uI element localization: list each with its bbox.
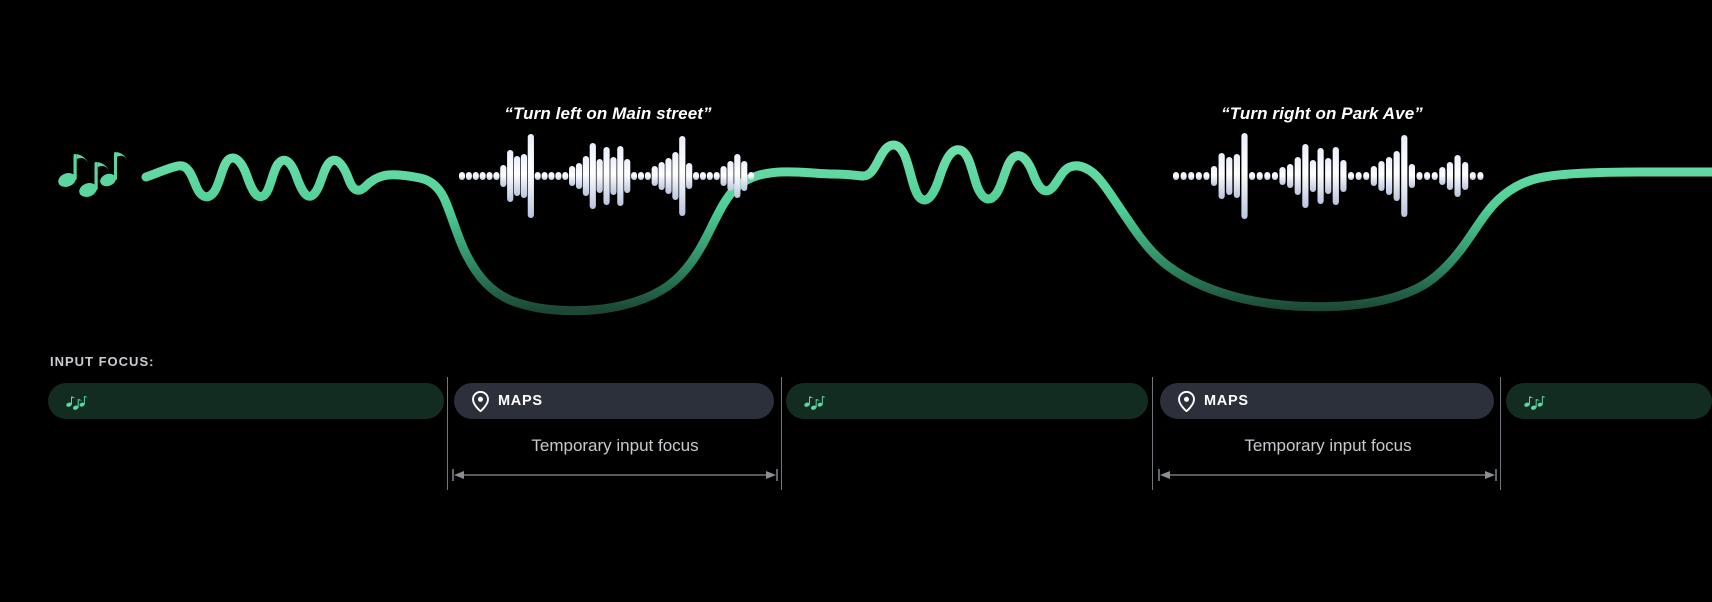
focus-segment-maps-1[interactable]: MAPS: [454, 383, 774, 419]
waveform-bar: [1257, 172, 1263, 180]
waveform-bar: [1302, 144, 1308, 208]
waveform-bar: [707, 172, 713, 180]
waveform-bar: [521, 154, 527, 198]
waveform-bar: [1409, 164, 1415, 188]
waveform-bar: [1264, 172, 1270, 180]
waveform-bar: [1417, 172, 1423, 180]
waveform-bar: [1386, 157, 1392, 195]
waveform-bar: [1378, 161, 1384, 191]
waveform-bar: [459, 172, 465, 180]
map-pin-icon: [1178, 391, 1195, 412]
input-focus-track: INPUT FOCUS:: [0, 330, 1712, 602]
waveform-bar: [1203, 172, 1209, 180]
waveform-bar: [1211, 166, 1217, 186]
focus-segment-audio-1[interactable]: [48, 383, 444, 419]
waveform-bar: [1462, 162, 1468, 190]
waveform-bar: [659, 162, 665, 190]
waveform-bar: [1333, 147, 1339, 205]
waveform-bar: [1447, 162, 1453, 190]
waveform-bar: [1477, 172, 1483, 180]
input-focus-heading: INPUT FOCUS:: [50, 354, 154, 369]
waveform-bar: [1325, 158, 1331, 194]
divider-3: [1152, 377, 1153, 490]
focus-segment-label: MAPS: [498, 393, 543, 409]
waveform-bar: [714, 172, 720, 180]
audio-wave-canvas: [0, 0, 1712, 330]
focus-segment-maps-2[interactable]: MAPS: [1160, 383, 1494, 419]
waveform-bar: [638, 172, 644, 180]
waveform-bar: [1424, 172, 1430, 180]
waveform-bar: [700, 172, 706, 180]
waveform-bar: [1272, 172, 1278, 180]
waveform-bar: [1295, 157, 1301, 195]
divider-2: [781, 377, 782, 490]
speech-label-2: “Turn right on Park Ave”: [1221, 104, 1423, 124]
waveform-bar: [466, 172, 472, 180]
music-level-wave: [146, 145, 1712, 311]
waveform-bar: [748, 172, 754, 180]
speech-label-1: “Turn left on Main street”: [504, 104, 711, 124]
temporary-focus-arrow-1: [452, 468, 778, 482]
waveform-bar: [679, 136, 685, 216]
waveform-bar: [1310, 160, 1316, 192]
waveform-bar: [603, 147, 609, 205]
waveform-bar: [1432, 172, 1438, 180]
temporary-focus-caption-1: Temporary input focus: [531, 436, 698, 456]
waveform-bar: [535, 172, 541, 180]
focus-segment-label: MAPS: [1204, 393, 1249, 409]
divider-1: [447, 377, 448, 490]
waveform-bar: [1348, 172, 1354, 180]
waveform-bar: [617, 146, 623, 206]
waveform-bar: [583, 156, 589, 196]
waveform-bar: [569, 166, 575, 186]
music-notes-icon: [56, 152, 127, 199]
waveform-bar: [665, 158, 671, 194]
waveform-bar: [590, 143, 596, 209]
temporary-focus-arrow-2: [1158, 468, 1497, 482]
waveform-bar: [631, 172, 637, 180]
waveform-bar: [562, 172, 568, 180]
waveform-bar: [1181, 172, 1187, 180]
waveform-bar: [1394, 151, 1400, 201]
waveform-bar: [1219, 153, 1225, 199]
waveform-bar: [1173, 172, 1179, 180]
voice-burst-bars-2: [1173, 133, 1483, 219]
waveform-focus-diagram: “Turn left on Main street” “Turn right o…: [0, 0, 1712, 602]
waveform-bar: [734, 154, 740, 198]
waveform-bar: [487, 172, 493, 180]
waveform-bar: [652, 166, 658, 186]
waveform-bar: [1439, 167, 1445, 185]
waveform-bar: [542, 172, 548, 180]
waveform-bar: [1234, 154, 1240, 198]
waveform-bar: [1279, 167, 1285, 185]
waveform-bar: [507, 150, 513, 202]
waveform-bar: [1454, 155, 1460, 197]
waveform-bar: [1401, 135, 1407, 217]
waveform-bar: [576, 163, 582, 189]
waveform-bar: [624, 159, 630, 193]
music-notes-icon: [804, 391, 828, 411]
waveform-bar: [1317, 148, 1323, 204]
temporary-focus-caption-2: Temporary input focus: [1244, 436, 1411, 456]
waveform-bar: [672, 152, 678, 200]
waveform-bar: [1196, 172, 1202, 180]
waveform-bar: [720, 166, 726, 186]
waveform-bar: [1188, 172, 1194, 180]
waveform-bar: [1226, 157, 1232, 195]
voice-burst-bars-1: [459, 134, 754, 218]
focus-segment-audio-3[interactable]: [1506, 383, 1712, 419]
waveform-bar: [500, 165, 506, 187]
waveform-bar: [610, 157, 616, 195]
waveform-bar: [493, 172, 499, 180]
waveform-bar: [1249, 172, 1255, 180]
waveform-bar: [1340, 160, 1346, 192]
waveform-bar: [555, 172, 561, 180]
waveform-bar: [514, 156, 520, 196]
waveform-bar: [1356, 172, 1362, 180]
music-notes-icon: [66, 391, 90, 411]
waveform-bar: [1470, 172, 1476, 180]
waveform-bar: [693, 172, 699, 180]
waveform-bar: [1241, 133, 1247, 219]
divider-4: [1500, 377, 1501, 490]
waveform-bar: [1287, 164, 1293, 188]
waveform-bar: [686, 163, 692, 189]
waveform-bar: [528, 134, 534, 218]
waveform-bar: [645, 172, 651, 180]
waveform-bar: [1363, 172, 1369, 180]
waveform-bar: [741, 161, 747, 191]
waveform-bar: [473, 172, 479, 180]
focus-segment-audio-2[interactable]: [786, 383, 1148, 419]
waveform-bar: [1371, 166, 1377, 186]
waveform-bar: [480, 172, 486, 180]
waveform-bar: [548, 172, 554, 180]
music-notes-icon: [1524, 391, 1548, 411]
waveform-bar: [727, 161, 733, 191]
waveform-bar: [597, 159, 603, 193]
map-pin-icon: [472, 391, 489, 412]
